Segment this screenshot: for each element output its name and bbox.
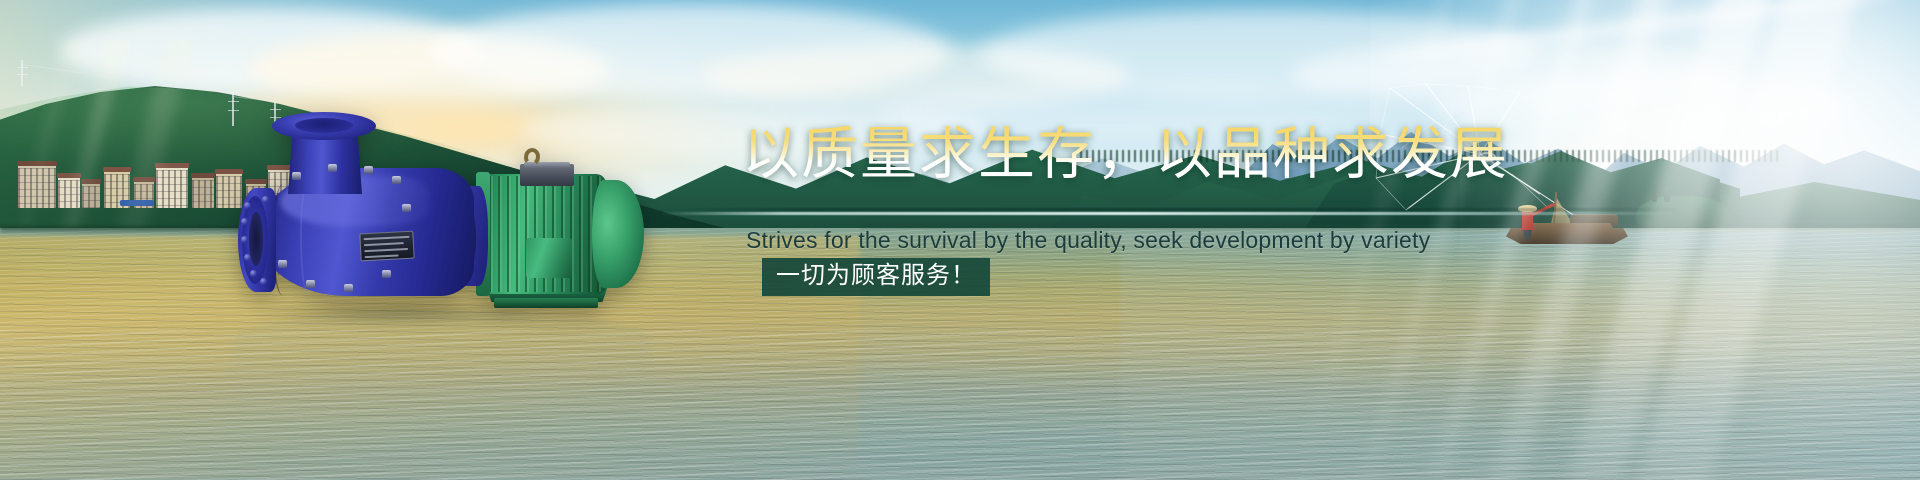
motor-junction-box bbox=[526, 238, 572, 278]
divider-shadow bbox=[660, 208, 1680, 211]
casing-nut bbox=[292, 172, 301, 180]
banner-headline: 以质量求生存，以品种求发展 bbox=[742, 126, 1509, 183]
flange-bolt bbox=[262, 196, 269, 203]
centrifugal-pump-product bbox=[232, 112, 652, 312]
hero-banner: 以质量求生存，以品种求发展 Strives for the survival b… bbox=[0, 0, 1920, 480]
motor-base-foot bbox=[494, 298, 598, 308]
casing-nut bbox=[382, 270, 391, 278]
flange-bolt bbox=[241, 218, 248, 225]
motor-fan-cover bbox=[592, 180, 644, 288]
casing-nut bbox=[402, 204, 411, 212]
suction-flange-bore bbox=[295, 118, 353, 133]
flange-bolt bbox=[244, 202, 251, 209]
discharge-bore bbox=[249, 212, 263, 266]
service-slogan-badge: 一切为顾客服务！ bbox=[762, 258, 990, 296]
nameplate-text-line bbox=[365, 254, 399, 258]
flange-bolt bbox=[244, 254, 251, 261]
nameplate-text-line bbox=[364, 248, 408, 252]
casing-nut bbox=[278, 260, 287, 268]
flange-bolt bbox=[260, 278, 267, 285]
pump-water-reflection bbox=[232, 312, 652, 442]
nameplate-text-line bbox=[364, 242, 404, 246]
banner-subline: Strives for the survival by the quality,… bbox=[746, 228, 1430, 253]
pump-nameplate bbox=[359, 231, 414, 262]
nameplate-text-line bbox=[364, 236, 410, 240]
casing-nut bbox=[328, 164, 337, 172]
casing-nut bbox=[364, 166, 373, 174]
casing-nut bbox=[344, 284, 353, 292]
casing-nut bbox=[392, 176, 401, 184]
flange-bolt bbox=[250, 270, 257, 277]
flange-bolt bbox=[241, 236, 248, 243]
pump-suction-neck bbox=[288, 132, 362, 194]
headline-divider bbox=[660, 212, 1680, 215]
casing-nut bbox=[306, 280, 315, 288]
